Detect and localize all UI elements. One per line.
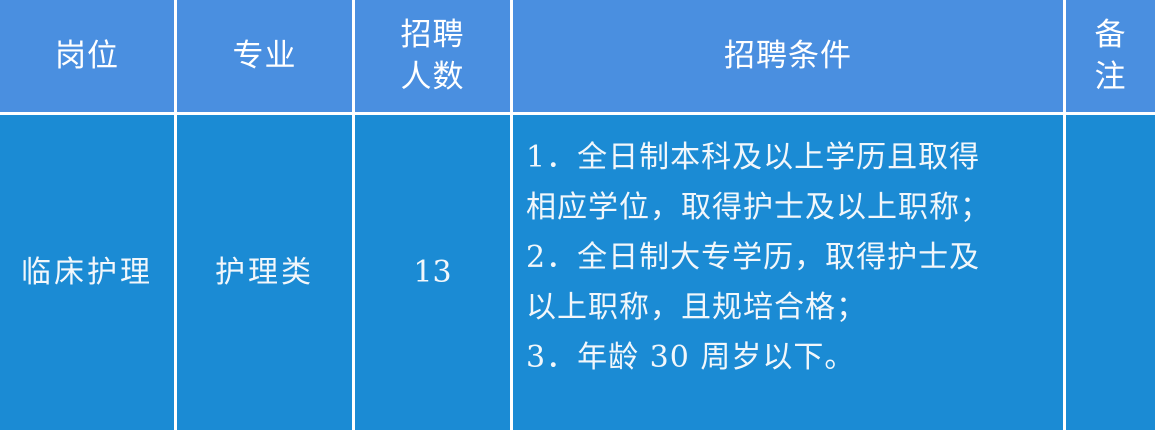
condition-line: 3．年龄 30 周岁以下。 bbox=[526, 333, 1063, 383]
condition-line: 以上职称，且规培合格； bbox=[526, 283, 1063, 333]
cell-major: 护理类 bbox=[177, 115, 355, 430]
table-header-row: 岗位 专业 招聘 人数 招聘条件 备 注 bbox=[0, 0, 1155, 115]
column-header-major: 专业 bbox=[177, 0, 355, 115]
condition-line: 2．全日制大专学历，取得护士及 bbox=[526, 233, 1063, 283]
condition-line: 1．全日制本科及以上学历且取得 bbox=[526, 133, 1063, 183]
table-header: 岗位 专业 招聘 人数 招聘条件 备 注 bbox=[0, 0, 1155, 115]
column-header-remark: 备 注 bbox=[1066, 0, 1155, 115]
cell-remark bbox=[1066, 115, 1155, 430]
column-header-post: 岗位 bbox=[0, 0, 177, 115]
condition-line: 相应学位，取得护士及以上职称； bbox=[526, 183, 1063, 233]
column-header-count: 招聘 人数 bbox=[355, 0, 513, 115]
recruitment-table: 岗位 专业 招聘 人数 招聘条件 备 注 临床护理 护理类 13 1．全日制本科… bbox=[0, 0, 1155, 430]
column-header-conditions: 招聘条件 bbox=[513, 0, 1066, 115]
cell-count: 13 bbox=[355, 115, 513, 430]
cell-conditions: 1．全日制本科及以上学历且取得 相应学位，取得护士及以上职称； 2．全日制大专学… bbox=[513, 115, 1066, 430]
table-row: 临床护理 护理类 13 1．全日制本科及以上学历且取得 相应学位，取得护士及以上… bbox=[0, 115, 1155, 430]
table-body: 临床护理 护理类 13 1．全日制本科及以上学历且取得 相应学位，取得护士及以上… bbox=[0, 115, 1155, 430]
cell-post: 临床护理 bbox=[0, 115, 177, 430]
